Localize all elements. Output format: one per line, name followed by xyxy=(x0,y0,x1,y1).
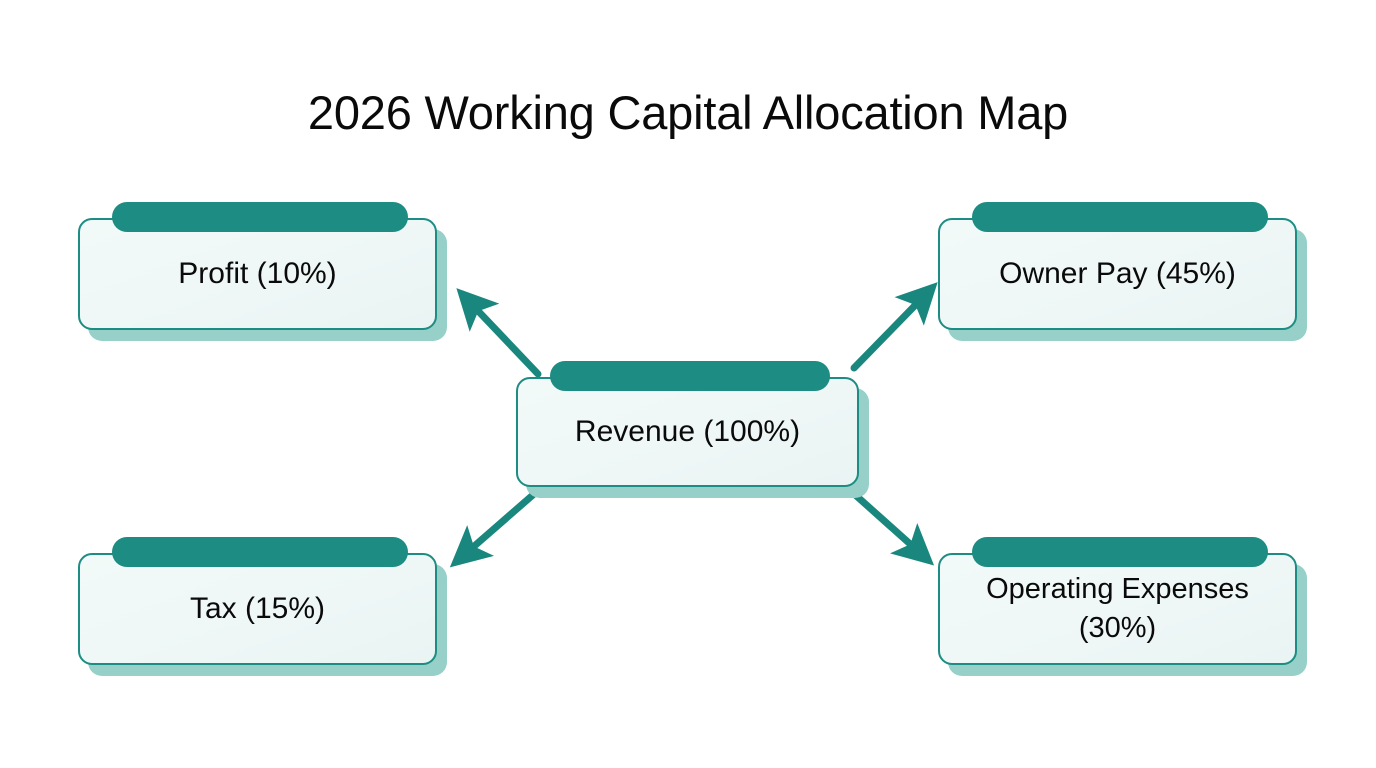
node-tax[interactable]: Tax (15%) xyxy=(78,553,437,665)
connector-revenue-to-profit xyxy=(462,294,538,374)
node-profit[interactable]: Profit (10%) xyxy=(78,218,437,330)
node-operating-expenses[interactable]: Operating Expenses (30%) xyxy=(938,553,1297,665)
node-revenue[interactable]: Revenue (100%) xyxy=(516,377,859,487)
node-label-profit: Profit (10%) xyxy=(166,254,348,294)
node-body: Tax (15%) xyxy=(78,553,437,665)
connector-revenue-to-tax xyxy=(456,494,534,562)
node-label-operating-expenses: Operating Expenses (30%) xyxy=(940,570,1295,647)
node-label-owner-pay: Owner Pay (45%) xyxy=(987,254,1248,294)
connector-revenue-to-operating-expenses xyxy=(852,492,928,560)
node-owner-pay[interactable]: Owner Pay (45%) xyxy=(938,218,1297,330)
node-tab xyxy=(112,537,408,567)
node-tab xyxy=(112,202,408,232)
node-body: Revenue (100%) xyxy=(516,377,859,487)
node-tab xyxy=(972,202,1268,232)
page-title: 2026 Working Capital Allocation Map xyxy=(0,85,1376,140)
node-label-revenue: Revenue (100%) xyxy=(563,412,812,452)
node-body: Operating Expenses (30%) xyxy=(938,553,1297,665)
node-body: Owner Pay (45%) xyxy=(938,218,1297,330)
node-tab xyxy=(972,537,1268,567)
node-tab xyxy=(550,361,830,391)
node-body: Profit (10%) xyxy=(78,218,437,330)
node-label-tax: Tax (15%) xyxy=(178,589,337,629)
diagram-canvas: 2026 Working Capital Allocation Map Prof… xyxy=(0,0,1376,768)
connector-revenue-to-owner-pay xyxy=(854,288,932,368)
